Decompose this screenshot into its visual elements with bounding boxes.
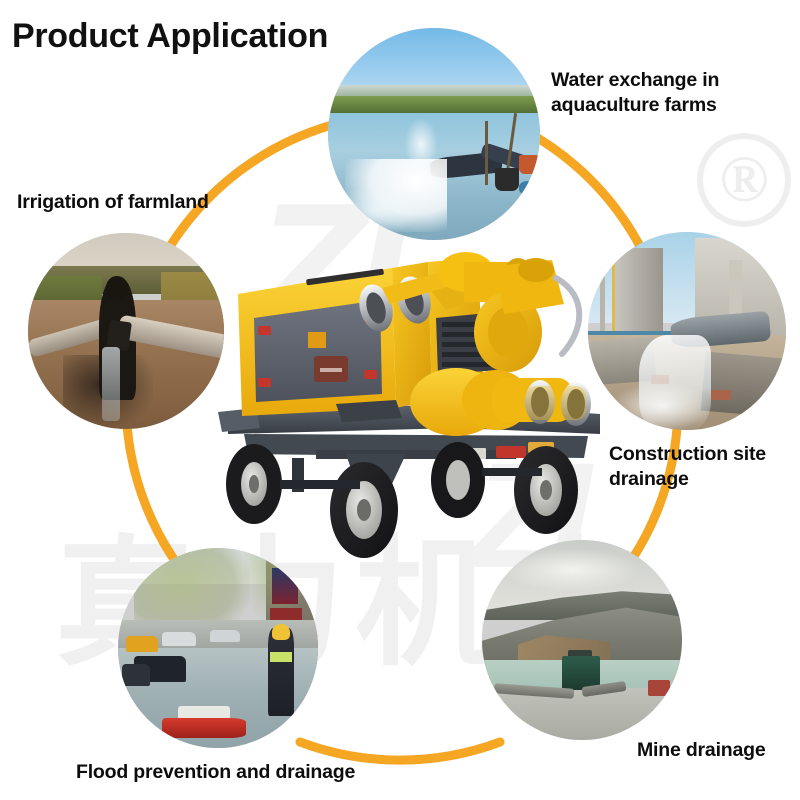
const-rubble-right: [700, 351, 784, 417]
label-mine-line1: Mine drainage: [637, 738, 800, 763]
flood-reflective-stripe: [270, 652, 292, 662]
aqua-bucket-black: [495, 168, 518, 191]
label-irrigation: Irrigation of farmland: [17, 190, 267, 215]
irrig-farmer-head: [106, 276, 128, 300]
photo-construction: [588, 232, 786, 430]
tail-light-red: [496, 446, 526, 458]
enclosure-brand-badge: [308, 332, 326, 348]
label-aquaculture-line2: aquaculture farms: [551, 93, 791, 118]
aqua-bucket-orange: [519, 155, 538, 174]
label-construction-line1: Construction site: [609, 442, 799, 467]
flood-vehicle-yellow: [126, 636, 158, 652]
photo-flood: [118, 548, 318, 748]
product-lower-discharge-ports: [525, 380, 591, 426]
label-flood: Flood prevention and drainage: [76, 760, 406, 785]
label-mine: Mine drainage: [637, 738, 800, 763]
label-irrigation-line1: Irrigation of farmland: [17, 190, 267, 215]
flood-rescue-worker: [268, 628, 294, 716]
label-aquaculture-line1: Water exchange in: [551, 68, 791, 93]
aqua-post-a: [485, 121, 488, 185]
photo-aquaculture: [328, 28, 540, 240]
photo-mine: [482, 540, 682, 740]
mine-red-container: [648, 680, 670, 696]
irrig-water-spill: [102, 347, 120, 421]
label-construction: Construction site drainage: [609, 442, 799, 492]
aqua-basin-blue: [519, 181, 540, 196]
enclosure-latch-bl: [258, 378, 271, 387]
product-application-infographic: ZL ZL ® 真力机电 Product Application: [0, 0, 800, 800]
flood-rescue-boat: [162, 718, 246, 738]
flood-submerged-suv: [122, 664, 150, 686]
label-flood-line1: Flood prevention and drainage: [76, 760, 406, 785]
const-tower-under-construction: [612, 248, 663, 343]
label-aquaculture: Water exchange in aquaculture farms: [551, 68, 791, 118]
page-title: Product Application: [12, 17, 328, 56]
product-image-trailer-mounted-diesel-pump: [196, 222, 616, 562]
flood-rescue-helmet: [272, 624, 290, 640]
const-water-splash: [612, 382, 711, 430]
photo-irrigation: [28, 233, 224, 429]
label-construction-line2: drainage: [609, 467, 799, 492]
flood-vehicle-far: [210, 630, 240, 642]
flood-vehicle-white: [162, 632, 196, 646]
const-brick-b: [711, 390, 731, 400]
enclosure-latch-br: [364, 370, 377, 379]
enclosure-latch-tl: [258, 326, 271, 335]
flood-banner-sign: [272, 568, 298, 604]
